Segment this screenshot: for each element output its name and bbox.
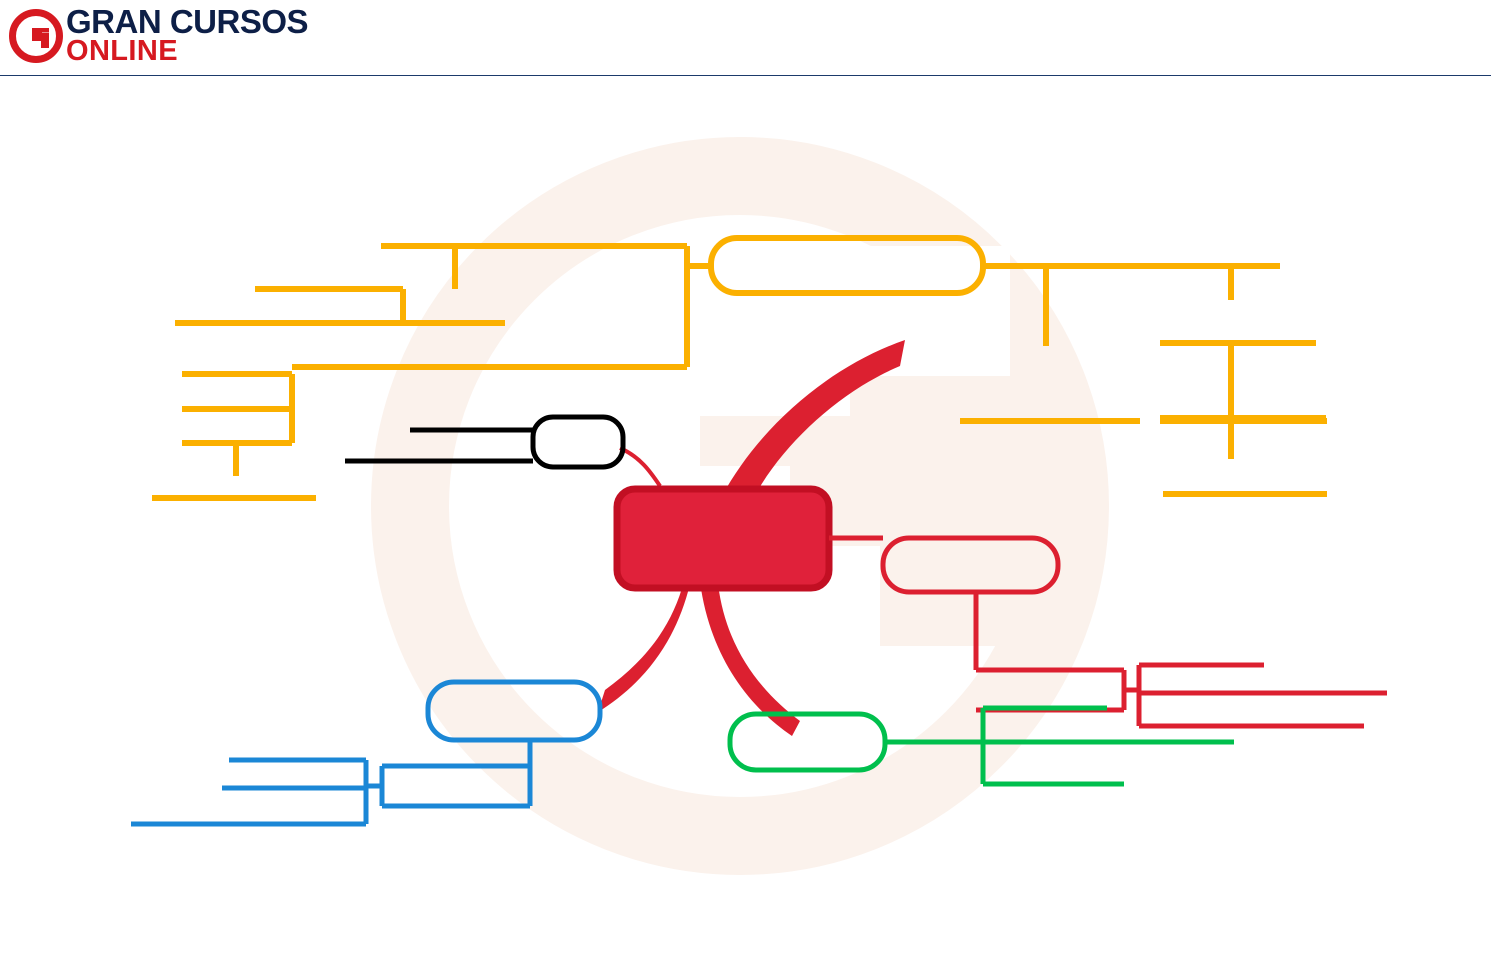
trunk-to-black (620, 448, 660, 486)
gran-cursos-g-icon (8, 8, 64, 64)
branch-blue[interactable] (131, 682, 600, 824)
brand-line-gran-cursos: GRAN CURSOS (66, 7, 308, 37)
brand-wordmark: GRAN CURSOS ONLINE (66, 7, 308, 65)
mindmap-canvas[interactable] (0, 76, 1491, 956)
brand-line-online: ONLINE (66, 38, 308, 65)
branch-black-node[interactable] (533, 417, 623, 467)
mindmap-diagram (0, 76, 1491, 956)
center-node-shape[interactable] (617, 489, 829, 588)
trunk-to-blue (598, 581, 690, 712)
branch-green-node[interactable] (730, 714, 885, 770)
brand-logo[interactable]: GRAN CURSOS ONLINE (8, 4, 308, 68)
page-header: GRAN CURSOS ONLINE (0, 0, 1491, 76)
center-node[interactable] (617, 489, 829, 588)
branch-green[interactable] (730, 708, 1234, 784)
